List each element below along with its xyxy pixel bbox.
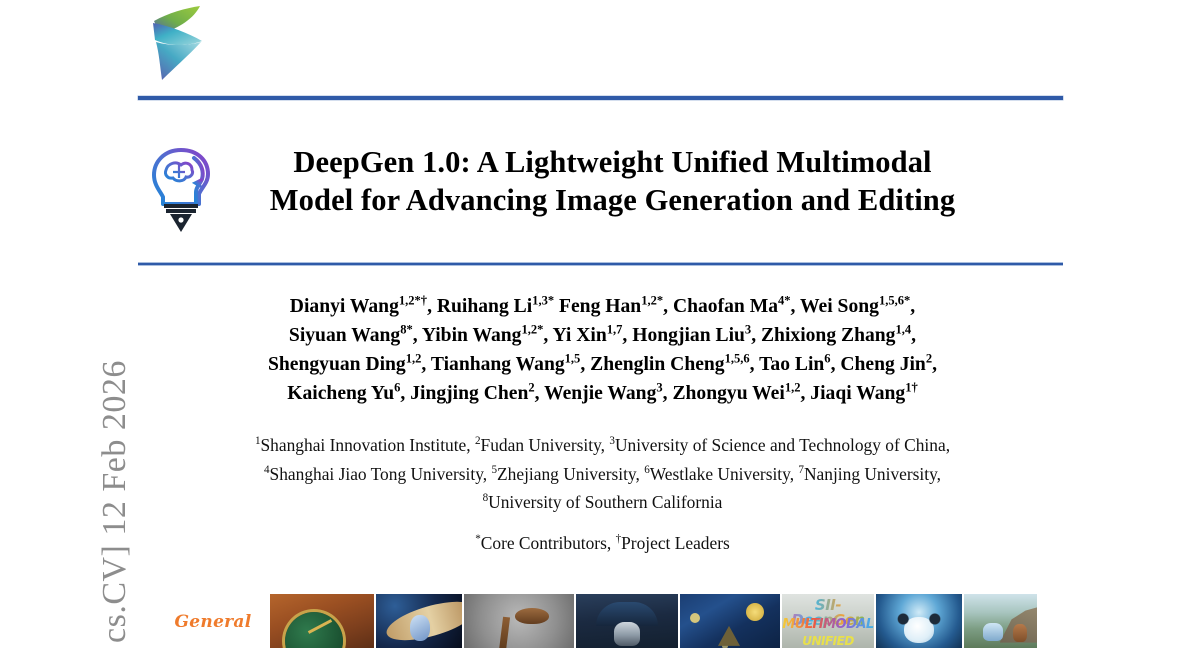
author-name: Zhixiong Zhang [761, 325, 896, 346]
affiliation-name: Zhejiang University [497, 464, 635, 484]
author-name: Shengyuan Ding [268, 354, 406, 375]
thumb-starry-night-art [680, 594, 780, 648]
author-entry: Tianhang Wang1,5 [431, 354, 580, 375]
affiliation-name: University of Southern California [488, 492, 722, 512]
author-name: Jingjing Chen [410, 383, 528, 404]
author-affiliation-marker: 1,2* [641, 293, 663, 307]
contributor-note-entry: *Core Contributors [475, 533, 607, 553]
author-entry: Chaofan Ma4* [673, 296, 791, 317]
affiliation-entry: 4Shanghai Jiao Tong University [264, 464, 483, 484]
author-entry: Yibin Wang1,2* [422, 325, 544, 346]
thumb-starry-night [680, 594, 780, 648]
author-entry: Cheng Jin2 [840, 354, 932, 375]
affiliation-entry: 1Shanghai Innovation Institute [255, 435, 466, 455]
author-entry: Hongjian Liu3 [632, 325, 751, 346]
author-entry: Dianyi Wang1,2*† [290, 296, 427, 317]
author-affiliation-marker: 3 [745, 322, 751, 336]
teaser-row-label: General [168, 612, 258, 632]
author-entry: Jiaqi Wang1† [810, 383, 917, 404]
author-affiliation-marker: 2 [528, 380, 534, 394]
author-entry: Zhongyu Wei1,2 [672, 383, 800, 404]
author-entry: Siyuan Wang8* [289, 325, 413, 346]
author-name: Dianyi Wang [290, 296, 399, 317]
thumb-clock-brick-wall-art [270, 594, 374, 648]
thumb-astronaut-saturn [376, 594, 462, 648]
affiliation-entry: 7Nanjing University [798, 464, 936, 484]
thumb-great-wall-fox [964, 594, 1037, 648]
author-name: Kaicheng Yu [287, 383, 394, 404]
thumb-nest-on-branch-art [464, 594, 574, 648]
thumb-raccoon-umbrella-art [576, 594, 678, 648]
thumb-graffiti-wall: SII-DeepGenMULTIMODALUNIFIED [782, 594, 874, 648]
author-name: Jiaqi Wang [810, 383, 905, 404]
author-affiliation-marker: 1,7 [607, 322, 623, 336]
affiliation-entry: 6Westlake University [644, 464, 790, 484]
author-name: Tao Lin [759, 354, 824, 375]
author-entry: Wenjie Wang3 [544, 383, 663, 404]
author-affiliation-marker: 1† [905, 380, 918, 394]
author-line-4: Kaicheng Yu6, Jingjing Chen2, Wenjie Wan… [140, 379, 1065, 408]
thumb-raccoon-umbrella [576, 594, 678, 648]
contributor-note: *Core Contributors, †Project Leaders [140, 533, 1065, 554]
thumb-glowing-panda-art [876, 594, 962, 648]
author-affiliation-marker: 4* [778, 293, 791, 307]
author-affiliation-marker: 1,5,6* [879, 293, 910, 307]
author-name: Tianhang Wang [431, 354, 565, 375]
author-affiliation-marker: 6 [824, 351, 830, 365]
contributor-role: Core Contributors [481, 533, 607, 553]
author-name: Chaofan Ma [673, 296, 778, 317]
arxiv-identifier-stamp: cs.CV] 12 Feb 2026 [92, 3, 138, 643]
header-divider-top [138, 96, 1063, 100]
author-entry: Zhixiong Zhang1,4 [761, 325, 911, 346]
contributor-note-entry: †Project Leaders [616, 533, 730, 553]
affiliation-entry: 2Fudan University [475, 435, 601, 455]
author-line-3: Shengyuan Ding1,2, Tianhang Wang1,5, Zhe… [140, 350, 1065, 379]
author-entry: Ruihang Li1,3* [437, 296, 554, 317]
author-name: Yibin Wang [422, 325, 522, 346]
affiliation-entry: 3University of Science and Technology of… [609, 435, 945, 455]
affiliation-name: Nanjing University [804, 464, 937, 484]
author-entry: Yi Xin1,7 [552, 325, 622, 346]
affiliation-name: Westlake University [650, 464, 790, 484]
affiliation-name: University of Science and Technology of … [615, 435, 946, 455]
author-affiliation-marker: 2 [926, 351, 932, 365]
author-affiliation-marker: 1,5,6 [725, 351, 750, 365]
contributor-role: Project Leaders [621, 533, 730, 553]
affiliation-line-3: 8University of Southern California [140, 488, 1065, 517]
author-affiliation-marker: 3 [656, 380, 662, 394]
author-affiliation-marker: 1,3* [532, 293, 554, 307]
author-name: Wei Song [800, 296, 879, 317]
thumb-glowing-panda [876, 594, 962, 648]
author-name: Hongjian Liu [632, 325, 745, 346]
affiliation-line-2: 4Shanghai Jiao Tong University, 5Zhejian… [140, 460, 1065, 489]
graffiti-text-2: MULTIMODAL [782, 618, 874, 631]
thumb-graffiti-wall-art: SII-DeepGenMULTIMODALUNIFIED [782, 594, 874, 648]
author-affiliation-marker: 1,4 [895, 322, 911, 336]
thumb-great-wall-fox-art [964, 594, 1037, 648]
author-entry: Wei Song1,5,6* [800, 296, 910, 317]
author-affiliation-marker: 1,2 [785, 380, 801, 394]
graffiti-text-3: UNIFIED [782, 635, 874, 647]
author-line-1: Dianyi Wang1,2*†, Ruihang Li1,3* Feng Ha… [140, 292, 1065, 321]
author-affiliation-marker: 1,2*† [399, 293, 427, 307]
author-name: Cheng Jin [840, 354, 925, 375]
author-affiliation-marker: 6 [394, 380, 400, 394]
author-line-2: Siyuan Wang8*, Yibin Wang1,2*, Yi Xin1,7… [140, 321, 1065, 350]
author-name: Wenjie Wang [544, 383, 656, 404]
author-entry: Zhenglin Cheng1,5,6 [590, 354, 750, 375]
author-list: Dianyi Wang1,2*†, Ruihang Li1,3* Feng Ha… [140, 292, 1065, 408]
sii-ribbon-logo [150, 4, 208, 82]
rabbit-figure [1013, 624, 1027, 642]
affiliation-name: Shanghai Innovation Institute [261, 435, 467, 455]
author-entry: Feng Han1,2* [559, 296, 663, 317]
author-affiliation-marker: 1,2 [406, 351, 422, 365]
arxiv-stamp-text: cs.CV] 12 Feb 2026 [96, 360, 134, 643]
author-name: Zhongyu Wei [672, 383, 784, 404]
affiliation-line-1: 1Shanghai Innovation Institute, 2Fudan U… [140, 431, 1065, 460]
page-title-line-2: Model for Advancing Image Generation and… [160, 181, 1065, 219]
thumb-astronaut-saturn-art [376, 594, 462, 648]
page-title: DeepGen 1.0: A Lightweight Unified Multi… [160, 143, 1065, 219]
author-entry: Tao Lin6 [759, 354, 830, 375]
author-entry: Kaicheng Yu6 [287, 383, 400, 404]
author-name: Zhenglin Cheng [590, 354, 724, 375]
author-affiliation-marker: 8* [400, 322, 413, 336]
author-name: Siyuan Wang [289, 325, 400, 346]
author-entry: Jingjing Chen2 [410, 383, 534, 404]
affiliation-entry: 5Zhejiang University [491, 464, 635, 484]
thumb-nest-on-branch [464, 594, 574, 648]
affiliation-entry: 8University of Southern California [483, 492, 723, 512]
affiliation-name: Fudan University [481, 435, 601, 455]
author-name: Feng Han [559, 296, 641, 317]
page-title-line-1: DeepGen 1.0: A Lightweight Unified Multi… [160, 143, 1065, 181]
teaser-thumbnail-strip: SII-DeepGenMULTIMODALUNIFIED [270, 594, 1037, 648]
thumb-clock-brick-wall [270, 594, 374, 648]
author-affiliation-marker: 1,2* [521, 322, 543, 336]
affiliation-name: Shanghai Jiao Tong University [270, 464, 483, 484]
author-name: Ruihang Li [437, 296, 532, 317]
author-entry: Shengyuan Ding1,2 [268, 354, 421, 375]
author-affiliation-marker: 1,5 [565, 351, 581, 365]
affiliation-list: 1Shanghai Innovation Institute, 2Fudan U… [140, 431, 1065, 517]
header-divider-bottom [138, 263, 1063, 265]
author-name: Yi Xin [552, 325, 606, 346]
